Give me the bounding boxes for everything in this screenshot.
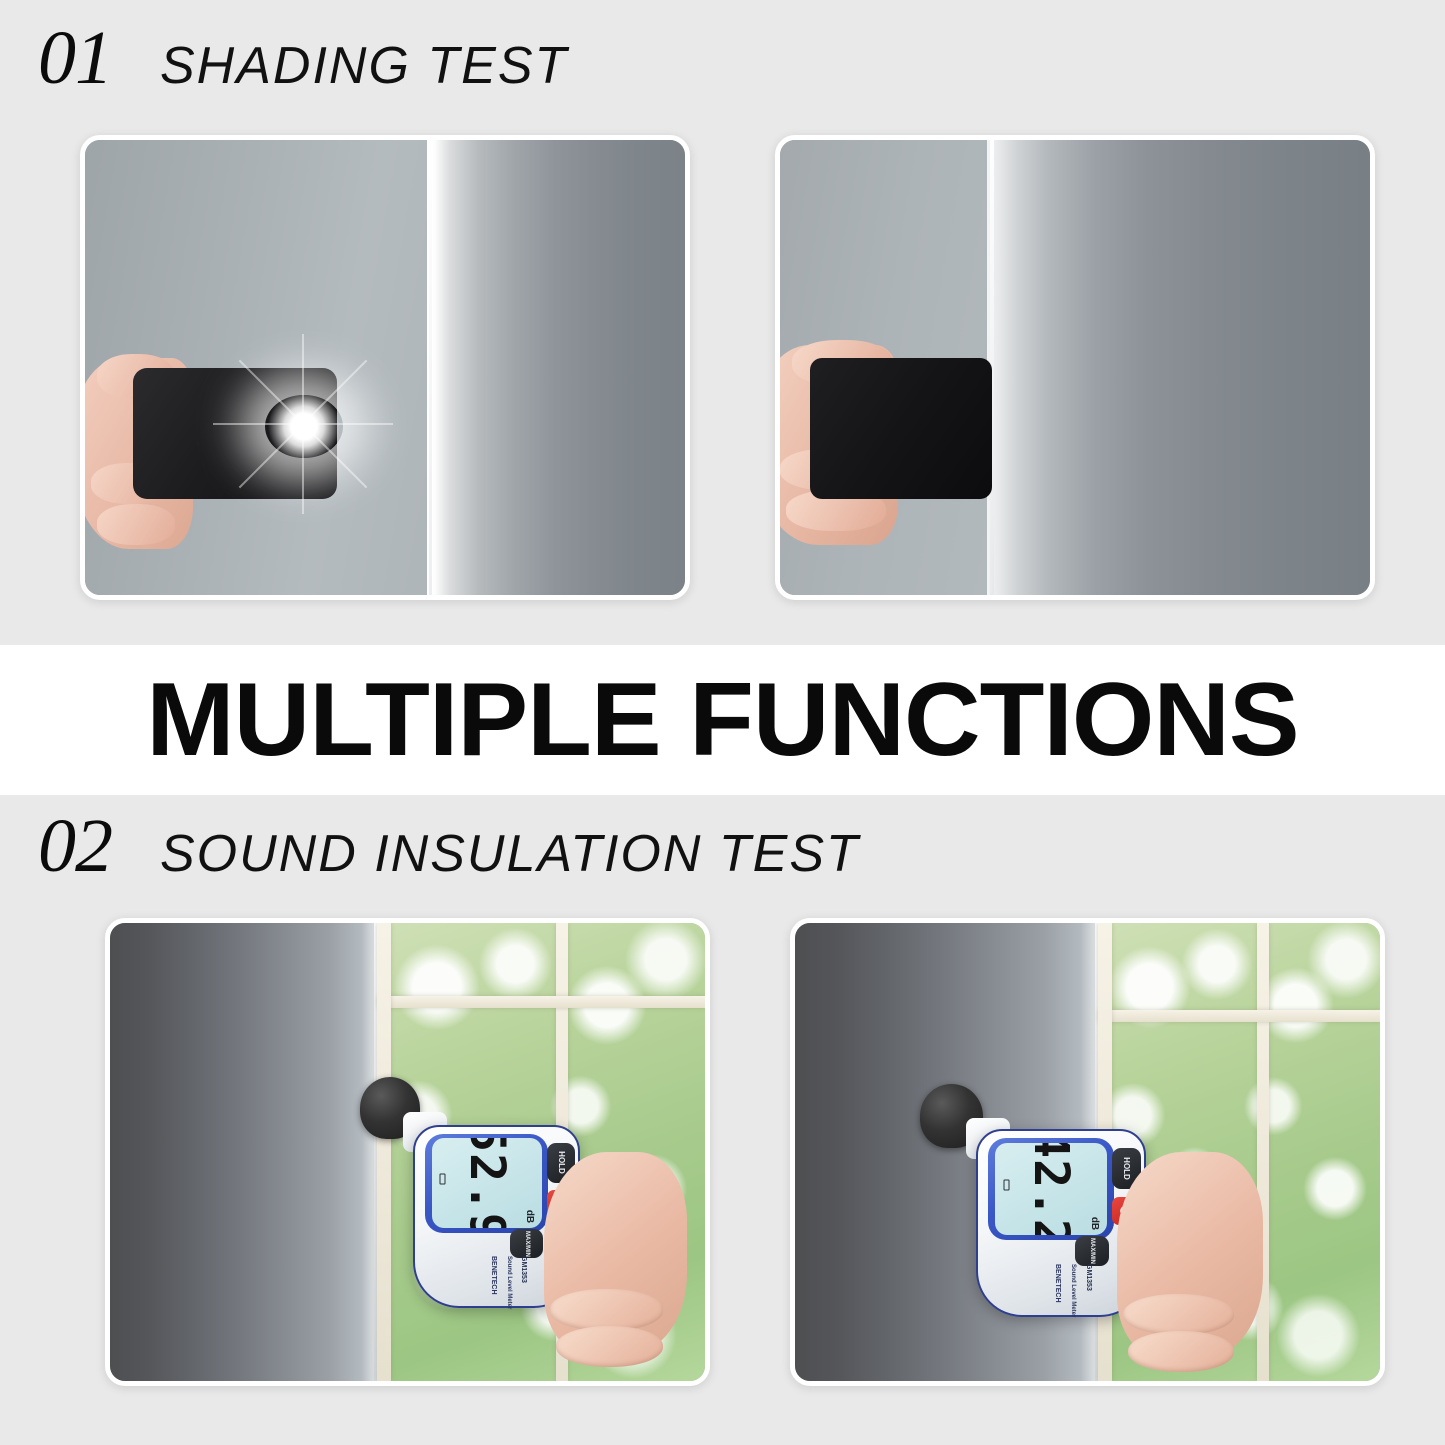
maxmin-button-label: MAX/MIN <box>1089 1238 1095 1264</box>
battery-icon <box>1003 1179 1009 1190</box>
meter-model-label: GM1353 <box>1085 1264 1092 1291</box>
photo-card-shading-light-blocked <box>775 135 1375 600</box>
sound-reading-unit: dB <box>524 1210 535 1223</box>
meter-product-label: Sound Level Meter <box>506 1256 512 1309</box>
meter-lcd-display: 42.2 dB <box>995 1143 1107 1235</box>
meter-brand-label: BENETECH <box>1054 1264 1061 1303</box>
curtain-panel <box>110 923 378 1381</box>
banner-title: MULTIPLE FUNCTIONS <box>0 645 1445 795</box>
section-two-number: 02 <box>38 808 112 884</box>
sound-reading-unit: dB <box>1089 1217 1100 1230</box>
photo-card-sound-against-curtain: 42.2 dB HOLD ⏻ MAX/MIN BENETECH GM1353 S… <box>790 918 1385 1386</box>
finger <box>97 504 175 545</box>
hold-button-label: HOLD <box>556 1152 565 1175</box>
section-two-header: 02 SOUND INSULATION TEST <box>38 808 860 884</box>
flashlight-glow-icon <box>265 395 343 459</box>
section-one-title: SHADING TEST <box>160 40 568 92</box>
photo-phone-flashlight-in-front-of-curtain <box>85 140 685 595</box>
finger <box>556 1326 663 1367</box>
photo-sound-meter-against-curtain: 42.2 dB HOLD ⏻ MAX/MIN BENETECH GM1353 S… <box>795 923 1380 1381</box>
section-two-title: SOUND INSULATION TEST <box>160 828 860 880</box>
photo-phone-behind-curtain-light-blocked <box>780 140 1370 595</box>
photo-card-sound-at-window: 52.9 dB HOLD ⏻ MAX/MIN BENETECH GM1353 S… <box>105 918 710 1386</box>
meter-product-label: Sound Level Meter <box>1070 1264 1076 1317</box>
section-one-header: 01 SHADING TEST <box>38 20 568 96</box>
sound-reading-value: 42.2 <box>1023 1143 1079 1235</box>
window-mullion-vertical <box>1257 923 1269 1381</box>
curtain-panel <box>987 140 1371 595</box>
finger <box>1123 1294 1234 1335</box>
photo-sound-meter-at-open-window: 52.9 dB HOLD ⏻ MAX/MIN BENETECH GM1353 S… <box>110 923 705 1381</box>
maxmin-button-label: MAX/MIN <box>524 1231 530 1257</box>
meter-lcd-display: 52.9 dB <box>432 1138 542 1228</box>
curtain-edge-seam <box>429 140 432 595</box>
meter-brand-label: BENETECH <box>490 1256 497 1295</box>
curtain-panel <box>427 140 685 595</box>
meter-model-label: GM1353 <box>520 1256 527 1283</box>
window-frame-edge <box>377 923 391 1381</box>
battery-icon <box>440 1173 446 1184</box>
hold-button-label: HOLD <box>1122 1157 1131 1180</box>
photo-card-shading-light-on <box>80 135 690 600</box>
finger <box>1128 1331 1233 1372</box>
window-mullion-horizontal <box>1099 1010 1380 1022</box>
finger <box>550 1289 663 1330</box>
section-one-number: 01 <box>38 20 112 96</box>
maxmin-button[interactable]: MAX/MIN <box>1075 1236 1109 1266</box>
sound-reading-value: 52.9 <box>459 1138 515 1228</box>
smartphone <box>810 358 993 499</box>
window-mullion-horizontal <box>378 996 705 1008</box>
maxmin-button[interactable]: MAX/MIN <box>510 1229 543 1258</box>
